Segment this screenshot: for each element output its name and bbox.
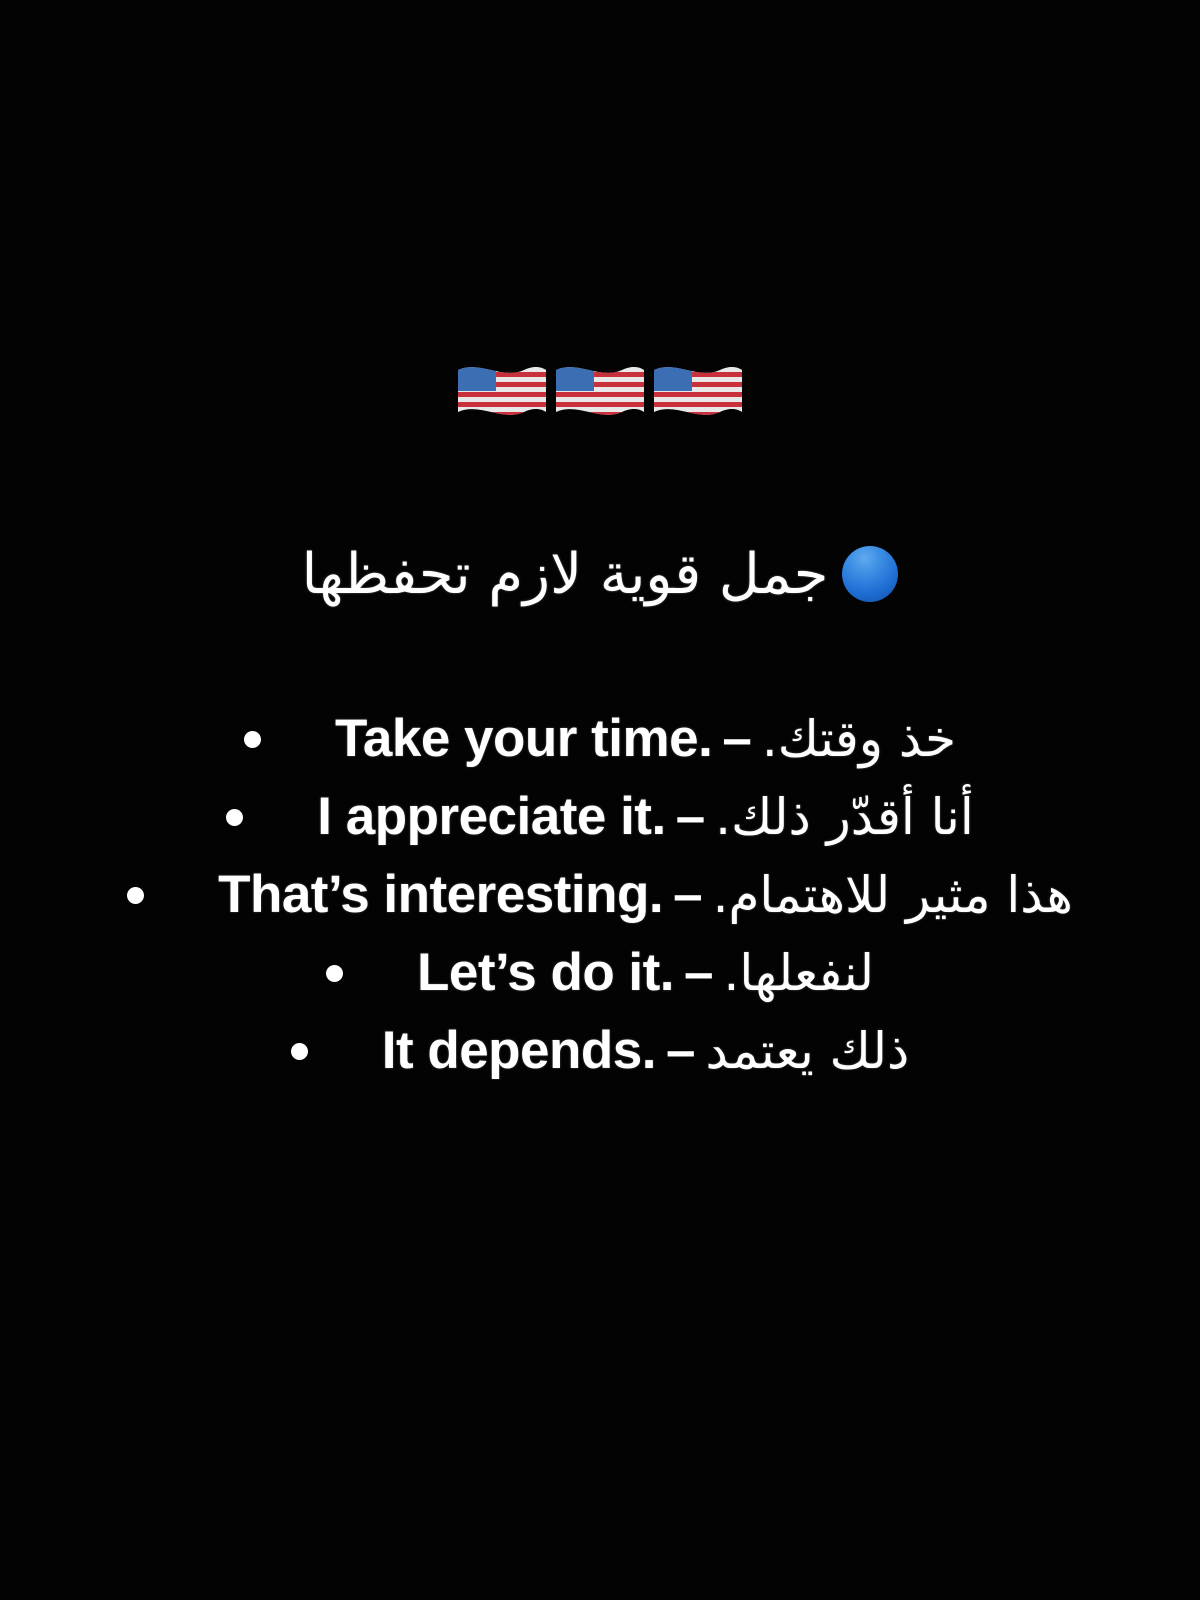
phrase-english: Take your time. [335,709,712,768]
phrase-list: Take your time.–خذ وقتك. I appreciate it… [0,700,1200,1090]
card-content: جمل قوية لازم تحفظها Take your time.–خذ … [0,0,1200,1600]
phrase-separator: – [666,787,715,846]
headline: جمل قوية لازم تحفظها [0,540,1200,610]
phrase-separator: – [663,865,712,924]
phrase-arabic: لنفعلها. [724,944,874,1002]
blue-circle-icon [842,546,898,602]
bullet-icon [291,1043,308,1060]
bullet-icon [226,809,243,826]
phrase-separator: – [712,709,761,768]
phrase-english: I appreciate it. [317,787,665,846]
phrase-arabic: ذلك يعتمد [705,1022,909,1080]
headline-text: جمل قوية لازم تحفظها [302,540,829,610]
phrase-english: Let’s do it. [417,943,674,1002]
us-flag-icon [650,358,746,426]
us-flag-icon [454,358,550,426]
phrase-separator: – [656,1021,705,1080]
list-item: That’s interesting.–هذا مثير للاهتمام. [0,856,1200,934]
list-item: Take your time.–خذ وقتك. [0,700,1200,778]
phrase-arabic: أنا أقدّر ذلك. [715,788,974,846]
list-item: Let’s do it.–لنفعلها. [0,934,1200,1012]
phrase-english: That’s interesting. [218,865,663,924]
phrase-separator: – [674,943,723,1002]
phrase-arabic: هذا مثير للاهتمام. [713,866,1073,924]
list-item: It depends.–ذلك يعتمد [0,1012,1200,1090]
bullet-icon [326,965,343,982]
bullet-icon [244,731,261,748]
bullet-icon [127,887,144,904]
phrase-arabic: خذ وقتك. [762,710,956,768]
us-flag-icon [552,358,648,426]
phrase-english: It depends. [382,1021,656,1080]
list-item: I appreciate it.–أنا أقدّر ذلك. [0,778,1200,856]
flag-emoji-row [0,358,1200,426]
